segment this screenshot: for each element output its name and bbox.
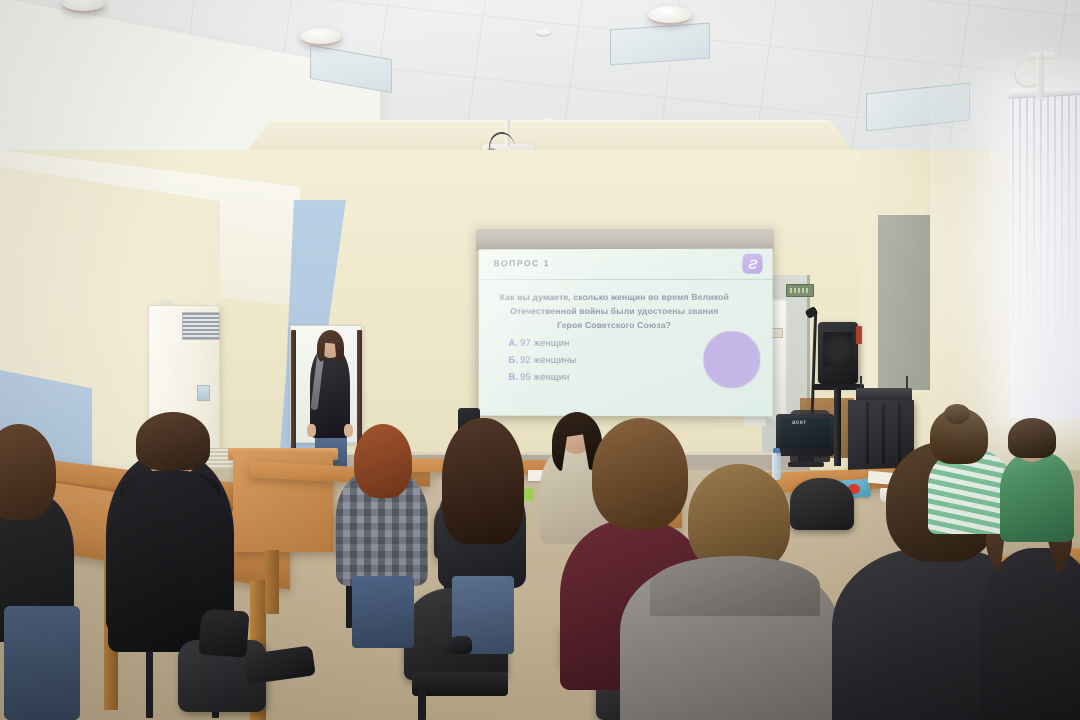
presenter-hand [307,424,316,437]
answer-key: В. [508,371,518,382]
answer-key: А. [508,337,518,348]
shoe [198,608,249,657]
panel-light-icon [610,23,710,66]
podium-leg [265,550,279,614]
student-hair [354,424,412,498]
slide-decoration-circle-icon [703,331,760,388]
student-jeans [352,576,414,648]
cable [866,402,869,464]
ceiling-light-icon [300,28,342,46]
ac-unit-control-panel[interactable] [197,385,210,401]
classroom-photo-scene: ВЫХОД ВОПРОС 1 Ƨ Как вы думаете, сколько… [0,0,1080,720]
antenna-icon [860,376,862,389]
answer-key: Б. [508,354,518,365]
student-hair [442,418,524,544]
student-hair [136,412,210,470]
cable [882,404,885,464]
shoe [446,636,472,654]
monitor-brand-label: acer [792,420,806,426]
student-jeans [4,606,80,720]
vertical-blinds[interactable] [1012,96,1080,416]
ac-unit-grille-icon [182,312,220,340]
slide-answer-option: В.95 женщин [508,371,576,382]
slide-question-number: ВОПРОС 1 [494,258,550,268]
cable [898,402,901,466]
glasses-icon [184,452,204,459]
curtain-rod [1036,52,1044,100]
pa-speaker-stand-pole [834,388,841,466]
answer-text: 95 женщин [520,371,569,382]
slide-answer-option: А.97 женщин [508,337,576,348]
exit-sign-icon [786,284,814,297]
student-hood [650,556,820,616]
quiz-brand-logo-icon: Ƨ [742,254,762,274]
student-hair [1008,418,1056,458]
pa-speaker [818,322,858,384]
presenter-hand [344,424,353,437]
antenna-icon [906,376,908,389]
ceiling-light-icon [648,6,692,25]
water-bottle-cap [773,448,780,453]
student-torso [980,548,1080,720]
door-right[interactable] [878,215,930,390]
student-hair [592,418,688,530]
smoke-detector-icon [536,28,551,35]
slide-answer-list: А.97 женщин Б.92 женщины В.95 женщин [508,337,576,382]
chair-leg [418,690,426,720]
whiteboard-leg [291,330,296,458]
projection-screen-case [476,229,774,251]
slide-header: ВОПРОС 1 Ƨ [479,249,773,280]
chair-back [790,478,854,530]
slide-answer-option: Б.92 женщины [508,354,576,365]
slide-header-divider [479,279,773,280]
projection-screen: ВОПРОС 1 Ƨ Как вы думаете, сколько женщи… [479,249,773,417]
student-torso [1000,452,1074,542]
answer-text: 97 женщин [520,337,569,348]
answer-text: 92 женщины [520,354,576,365]
logo-glyph: Ƨ [747,257,757,270]
presenter-glasses-icon [325,341,339,345]
water-bottle[interactable] [772,452,781,480]
monitor-base [788,462,824,467]
pa-speaker-handle [856,326,862,344]
slide-question-text: Как вы думаете, сколько женщин во время … [499,291,731,333]
hair-bun-icon [944,404,970,424]
chair-seat [412,672,508,696]
